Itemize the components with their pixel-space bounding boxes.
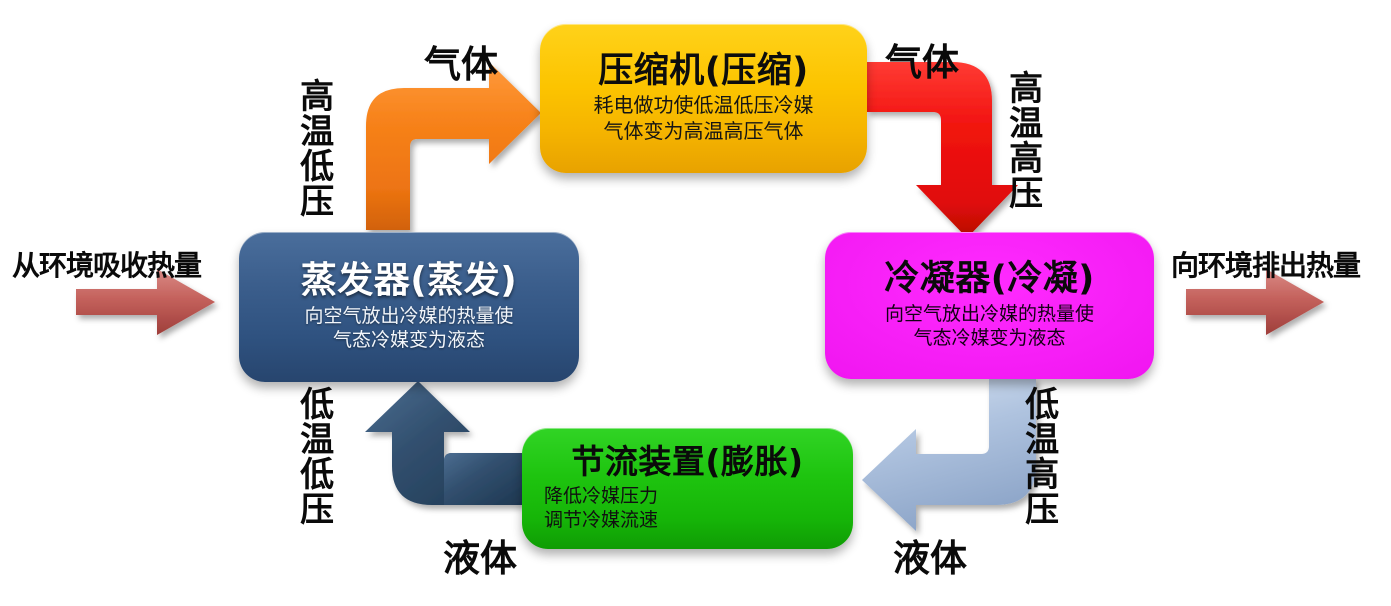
arrow-throttle-to-evaporator xyxy=(365,381,522,505)
label-reject-heat: 向环境排出热量 xyxy=(1171,244,1360,284)
evaporator-description: 向空气放出冷媒的热量使 气态冷媒变为液态 xyxy=(304,304,513,353)
label-liquid-right: 液体 xyxy=(893,528,967,582)
refrigeration-cycle-diagram: 压缩机(压缩) 耗电做功使低温低压冷媒 气体变为高温高压气体 蒸发器(蒸发) 向… xyxy=(0,0,1391,606)
label-gas-right: 气体 xyxy=(885,32,959,86)
label-hot-high-pressure: 高温高压 xyxy=(1005,70,1040,210)
label-absorb-heat: 从环境吸收热量 xyxy=(12,244,201,284)
label-liquid-left: 液体 xyxy=(443,528,517,582)
process-box-compressor[interactable]: 压缩机(压缩) 耗电做功使低温低压冷媒 气体变为高温高压气体 xyxy=(540,24,867,173)
label-cold-low-pressure: 低温低压 xyxy=(296,386,331,526)
label-hot-low-pressure: 高温低压 xyxy=(296,78,331,218)
condenser-description: 向空气放出冷媒的热量使 气态冷媒变为液态 xyxy=(885,302,1094,351)
label-gas-left: 气体 xyxy=(424,34,498,88)
compressor-title: 压缩机(压缩) xyxy=(598,53,809,90)
process-box-evaporator[interactable]: 蒸发器(蒸发) 向空气放出冷媒的热量使 气态冷媒变为液态 xyxy=(239,232,579,382)
condenser-title: 冷凝器(冷凝) xyxy=(884,261,1095,298)
compressor-description: 耗电做功使低温低压冷媒 气体变为高温高压气体 xyxy=(594,93,814,144)
process-box-throttle[interactable]: 节流装置(膨胀) 降低冷媒压力 调节冷媒流速 xyxy=(522,428,853,549)
throttle-description: 降低冷媒压力 调节冷媒流速 xyxy=(544,484,658,533)
arrow-compressor-to-condenser xyxy=(866,62,1018,238)
process-box-condenser[interactable]: 冷凝器(冷凝) 向空气放出冷媒的热量使 气态冷媒变为液态 xyxy=(825,232,1154,379)
evaporator-title: 蒸发器(蒸发) xyxy=(301,262,517,300)
arrow-condenser-to-throttle xyxy=(862,378,1036,531)
label-cold-high-pressure: 低温高压 xyxy=(1021,386,1056,526)
throttle-title: 节流装置(膨胀) xyxy=(571,445,803,480)
